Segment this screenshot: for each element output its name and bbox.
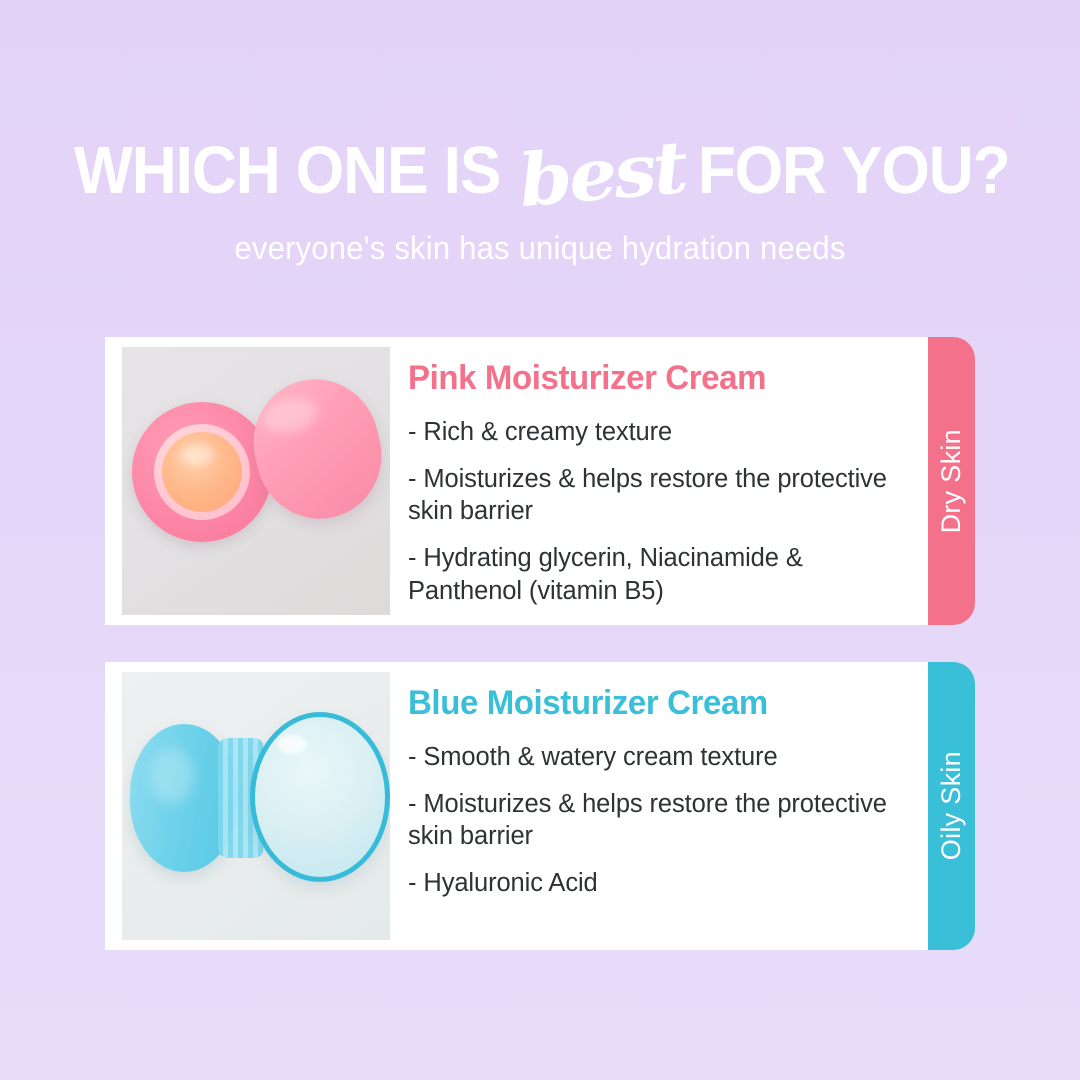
product-text-block: Pink Moisturizer Cream - Rich & creamy t… xyxy=(390,359,928,607)
product-title: Blue Moisturizer Cream xyxy=(408,684,895,723)
product-card-blue[interactable]: Oily Skin Blue Moisturizer Cream - Smoot… xyxy=(105,662,975,950)
product-card-body: Pink Moisturizer Cream - Rich & creamy t… xyxy=(105,337,928,625)
headline-part-2: FOR YOU? xyxy=(698,137,1010,204)
product-card-pink[interactable]: Dry Skin Pink Moisturizer Cream - Rich &… xyxy=(105,337,975,625)
headline-part-1: WHICH ONE IS xyxy=(74,137,500,204)
pink-jar-cream xyxy=(162,432,242,512)
product-photo-pink xyxy=(122,347,390,615)
pink-jar-base xyxy=(132,402,272,542)
product-bullet: - Moisturizes & helps restore the protec… xyxy=(408,788,910,853)
skin-type-tab-oily[interactable]: Oily Skin xyxy=(928,662,975,950)
headline: WHICH ONE IS best FOR YOU? xyxy=(0,132,1080,204)
pink-jar-inner-rim xyxy=(154,424,250,520)
skin-type-tab-label: Oily Skin xyxy=(936,751,967,860)
product-card-list: Dry Skin Pink Moisturizer Cream - Rich &… xyxy=(0,337,1080,950)
product-bullet: - Rich & creamy texture xyxy=(408,416,910,449)
product-bullet: - Smooth & watery cream texture xyxy=(408,741,910,774)
infographic-page: WHICH ONE IS best FOR YOU? everyone's sk… xyxy=(0,0,1080,1080)
header: WHICH ONE IS best FOR YOU? everyone's sk… xyxy=(0,0,1080,267)
product-card-body: Blue Moisturizer Cream - Smooth & watery… xyxy=(105,662,928,950)
product-photo-blue xyxy=(122,672,390,940)
product-title: Pink Moisturizer Cream xyxy=(408,359,895,398)
product-text-block: Blue Moisturizer Cream - Smooth & watery… xyxy=(390,684,928,900)
skin-type-tab-dry[interactable]: Dry Skin xyxy=(928,337,975,625)
product-bullet: - Moisturizes & helps restore the protec… xyxy=(408,463,910,528)
blue-jar-body xyxy=(250,712,390,882)
subtitle: everyone's skin has unique hydration nee… xyxy=(16,230,1064,267)
product-bullet: - Hyaluronic Acid xyxy=(408,867,910,900)
product-bullet: - Hydrating glycerin, Niacinamide & Pant… xyxy=(408,542,910,607)
headline-script-word: best xyxy=(509,130,693,217)
skin-type-tab-label: Dry Skin xyxy=(936,429,967,533)
